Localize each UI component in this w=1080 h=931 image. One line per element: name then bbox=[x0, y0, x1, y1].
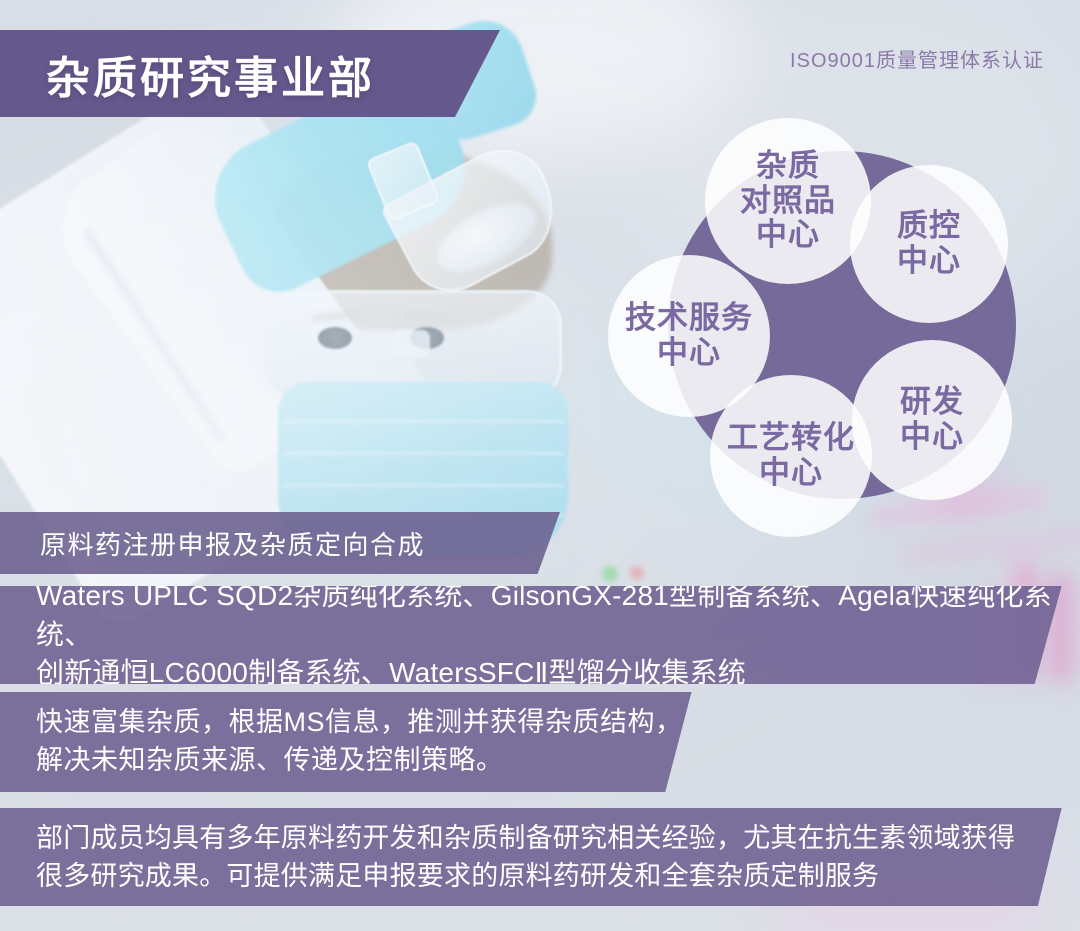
team-experience-band: 部门成员均具有多年原料药开发和杂质制备研究相关经验，尤其在抗生素领域获得 很多研… bbox=[0, 808, 1080, 906]
api-registration-text: 原料药注册申报及杂质定向合成 bbox=[0, 525, 425, 562]
team-experience-line-2: 很多研究成果。可提供满足申报要求的原料药研发和全套杂质定制服务 bbox=[0, 857, 1080, 895]
api-registration-band: 原料药注册申报及杂质定向合成 bbox=[0, 512, 560, 574]
circle-label-line: 杂质 bbox=[740, 149, 836, 184]
capability-line-2: 解决未知杂质来源、传递及控制策略。 bbox=[0, 742, 710, 780]
circle-label-line: 中心 bbox=[900, 420, 964, 455]
circle-label-line: 对照品 bbox=[740, 184, 836, 219]
iso-certification-label: ISO9001质量管理体系认证 bbox=[790, 44, 1044, 73]
circle-label-line: 中心 bbox=[740, 218, 836, 253]
circle-label-line: 技术服务 bbox=[625, 301, 753, 336]
circle-process-transfer-center[interactable]: 工艺转化 中心 bbox=[710, 375, 872, 537]
department-title-band: 杂质研究事业部 bbox=[0, 30, 500, 117]
equipment-list-band: Waters UPLC SQD2杂质纯化系统、GilsonGX-281型制备系统… bbox=[0, 586, 1080, 684]
capability-line-1: 快速富集杂质，根据MS信息，推测并获得杂质结构， bbox=[0, 704, 710, 742]
circle-label-line: 工艺转化 bbox=[727, 421, 855, 456]
poster-root: ISO9001质量管理体系认证 杂质研究事业部 杂质 对照品 中心 质控 中心 … bbox=[0, 0, 1080, 931]
circle-impurity-reference-center[interactable]: 杂质 对照品 中心 bbox=[705, 118, 871, 284]
circle-label-line: 中心 bbox=[625, 336, 753, 371]
circle-label-line: 研发 bbox=[900, 385, 964, 420]
circle-label-line: 中心 bbox=[727, 456, 855, 491]
circle-rnd-center[interactable]: 研发 中心 bbox=[852, 340, 1012, 500]
capability-band: 快速富集杂质，根据MS信息，推测并获得杂质结构， 解决未知杂质来源、传递及控制策… bbox=[0, 692, 710, 792]
page-title: 杂质研究事业部 bbox=[0, 42, 375, 106]
team-experience-line-1: 部门成员均具有多年原料药开发和杂质制备研究相关经验，尤其在抗生素领域获得 bbox=[0, 819, 1080, 857]
circle-label-line: 中心 bbox=[897, 244, 961, 279]
five-center-circle-diagram: 杂质 对照品 中心 质控 中心 技术服务 中心 研发 中心 bbox=[600, 105, 1040, 535]
circle-quality-control-center[interactable]: 质控 中心 bbox=[850, 165, 1008, 323]
circle-label-line: 质控 bbox=[897, 209, 961, 244]
equipment-line-1: Waters UPLC SQD2杂质纯化系统、GilsonGX-281型制备系统… bbox=[0, 577, 1080, 654]
